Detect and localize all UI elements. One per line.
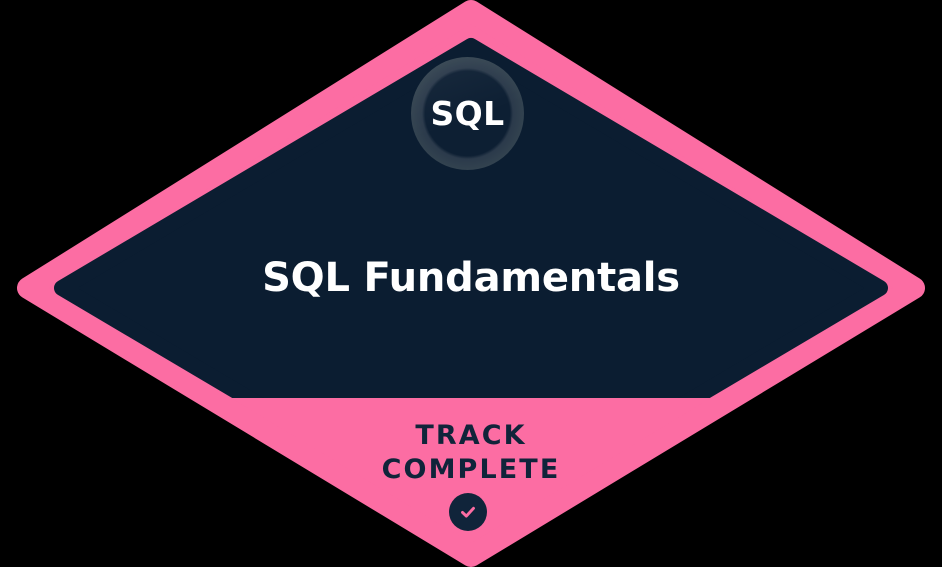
badge-shape-graphic (0, 0, 942, 567)
track-completion-badge: SQL SQL Fundamentals TRACK COMPLETE (0, 0, 942, 567)
